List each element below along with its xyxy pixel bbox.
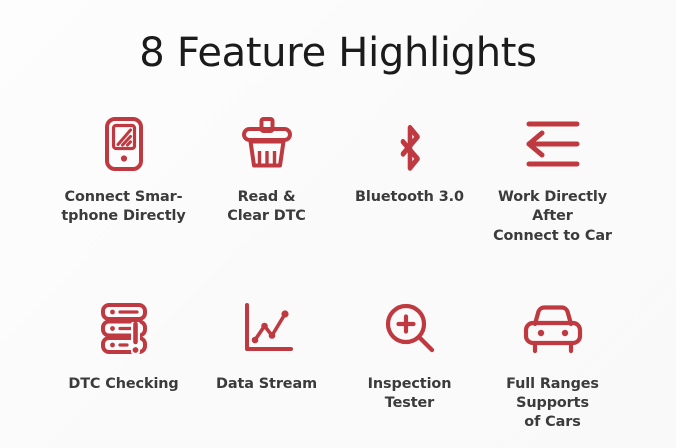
line-chart-icon [238, 298, 296, 360]
feature-inspection-tester[interactable]: Inspection Tester [338, 298, 481, 414]
car-front-icon [519, 298, 587, 360]
smartphone-signal-icon [98, 113, 150, 175]
feature-dtc-checking[interactable]: DTC Checking [52, 298, 195, 394]
server-stack-alert-icon [95, 298, 153, 360]
feature-read-clear-dtc[interactable]: Read & Clear DTC [195, 113, 338, 227]
feature-bluetooth[interactable]: Bluetooth 3.0 [338, 113, 481, 207]
feature-label: Connect Smar- tphone Directly [61, 188, 185, 227]
magnifier-plus-icon [381, 298, 439, 360]
page-title: 8 Feature Highlights [0, 0, 676, 75]
feature-full-ranges-supports-of-cars[interactable]: Full Ranges Supports of Cars [481, 298, 624, 433]
feature-work-directly-after-connect[interactable]: Work Directly After Connect to Car [481, 113, 624, 246]
feature-label: Work Directly After Connect to Car [481, 188, 624, 246]
feature-label: Data Stream [216, 375, 317, 394]
features-grid: Connect Smar- tphone Directly Read & Cle… [0, 113, 676, 433]
feature-label: Inspection Tester [368, 375, 452, 414]
features-row-1: Connect Smar- tphone Directly Read & Cle… [0, 113, 676, 246]
feature-label: Bluetooth 3.0 [355, 188, 464, 207]
feature-connect-smartphone[interactable]: Connect Smar- tphone Directly [52, 113, 195, 227]
feature-label: DTC Checking [68, 375, 178, 394]
bluetooth-icon [390, 113, 430, 175]
feature-highlights-page: 8 Feature Highlights Connect Smar- tphon… [0, 0, 676, 448]
feature-data-stream[interactable]: Data Stream [195, 298, 338, 394]
arrow-left-between-bars-icon [516, 113, 590, 175]
feature-label: Full Ranges Supports of Cars [481, 375, 624, 433]
broom-clear-icon [237, 113, 297, 175]
feature-label: Read & Clear DTC [227, 188, 306, 227]
features-row-2: DTC Checking Data Stream [0, 298, 676, 433]
